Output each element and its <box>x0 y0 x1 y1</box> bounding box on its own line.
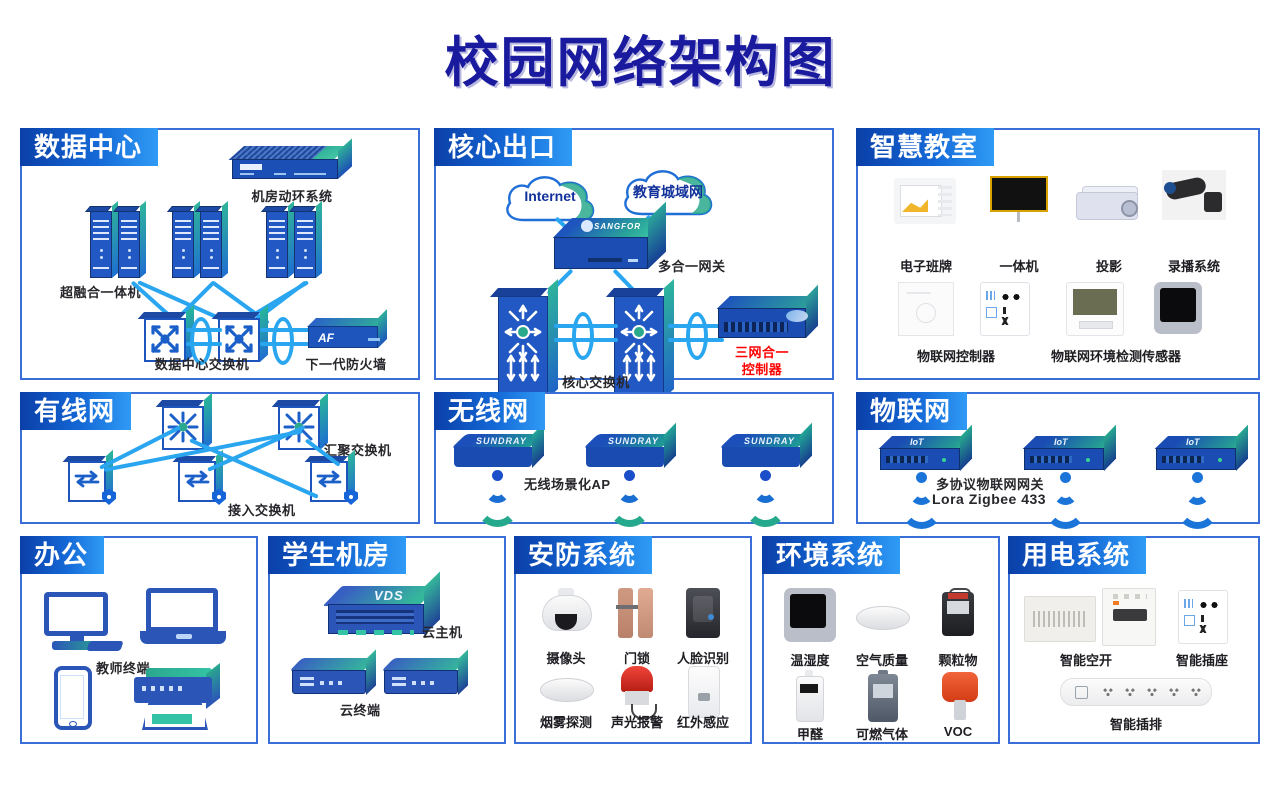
panel-header-environment-system: 环境系统 <box>762 536 900 574</box>
caption-smart-power-strip: 智能插排 <box>1110 714 1162 733</box>
caption-face-recognition: 人脸识别 <box>677 648 729 667</box>
caption-iot-controller: 物联网控制器 <box>917 346 995 365</box>
smart-socket-icon <box>980 282 1030 336</box>
label-data-center-switch: 数据中心交换机 <box>155 354 250 373</box>
caption-particulate-matter: 颗粒物 <box>938 650 977 669</box>
label-three-network-controller: 三网合一 控制器 <box>735 344 789 378</box>
wifi-signal-icon <box>738 470 792 512</box>
caption-sound-light-alarm: 声光报警 <box>611 712 663 731</box>
iot-brand-label: IoT <box>910 437 924 447</box>
smart-circuit-breaker-icon <box>1024 596 1096 642</box>
panel-office: 办公 教师终端 <box>20 536 258 744</box>
caption-combustible-gas: 可燃气体 <box>856 724 908 743</box>
panel-header-wired-network: 有线网 <box>20 392 131 430</box>
smart-circuit-breaker-icon <box>1102 588 1156 646</box>
cloud-label-internet: Internet <box>498 188 602 204</box>
firewall-badge: AF <box>318 331 334 345</box>
iot-brand-label: IoT <box>1186 437 1200 447</box>
particulate-matter-sensor-icon <box>940 588 976 640</box>
hci-server-icon <box>294 206 321 278</box>
hci-server-icon <box>90 206 117 278</box>
controller-label-line1: 三网合一 <box>735 345 789 360</box>
iot-gateway-icon: IoT <box>1156 436 1248 472</box>
panel-wireless-network: 无线网 SUNDRAY SUNDRAY SUNDRAY 无线场景化AP <box>434 392 834 524</box>
infrared-sensor-icon <box>688 666 720 718</box>
panel-student-lab: 学生机房 VDS 云主机 云终端 <box>268 536 506 744</box>
caption-air-quality: 空气质量 <box>856 650 908 669</box>
label-wireless-ap: 无线场景化AP <box>524 474 611 493</box>
caption-door-lock: 门锁 <box>624 648 650 667</box>
smart-power-strip-icon <box>1060 678 1212 706</box>
three-network-controller-icon <box>718 296 818 338</box>
caption-infrared-sensor: 红外感应 <box>677 712 729 731</box>
label-next-gen-firewall: 下一代防火墙 <box>305 354 386 373</box>
panel-security-system: 安防系统 摄像头 门锁 人脸识别 烟雾探测 声光报警 红外感应 <box>514 536 752 744</box>
panel-header-student-lab: 学生机房 <box>268 536 406 574</box>
dome-camera-icon <box>540 588 592 640</box>
cloud-terminal-icon <box>384 658 468 696</box>
trunk-connector-icon <box>686 312 708 360</box>
smoke-detector-icon <box>540 672 592 706</box>
panel-header-iot-network: 物联网 <box>856 392 967 430</box>
laptop-icon <box>140 588 226 646</box>
wifi-signal-icon <box>470 470 524 512</box>
panel-data-center: 数据中心 机房动环系统 <box>20 128 420 380</box>
panel-header-security-system: 安防系统 <box>514 536 652 574</box>
cloud-terminal-icon <box>292 658 376 696</box>
caption-iot-environment-sensor: 物联网环境检测传感器 <box>1051 346 1181 365</box>
cloud-label-education-man: 教育城域网 <box>616 182 720 202</box>
gateway-brand-label: SANGFOR <box>594 222 641 231</box>
electronic-class-board-icon <box>894 178 956 224</box>
panel-power-system: 用电系统 智能空开 智能插座 智能插排 <box>1008 536 1260 744</box>
desktop-computer-icon <box>44 592 112 654</box>
panel-header-wireless-network: 无线网 <box>434 392 545 430</box>
label-cloud-host: 云主机 <box>422 622 463 641</box>
label-core-switch: 核心交换机 <box>562 372 630 391</box>
iot-brand-label: IoT <box>1054 437 1068 447</box>
caption-smart-socket: 智能插座 <box>1176 650 1228 669</box>
panel-header-smart-classroom: 智慧教室 <box>856 128 994 166</box>
ap-brand-label: SUNDRAY <box>476 436 527 446</box>
caption-interactive-panel: 一体机 <box>999 256 1038 275</box>
wireless-ap-icon: SUNDRAY <box>722 434 812 470</box>
page-title: 校园网络架构图 <box>0 18 1281 97</box>
formaldehyde-sensor-icon <box>796 670 822 720</box>
iot-controller-icon <box>898 282 954 336</box>
wifi-signal-icon <box>1170 472 1224 514</box>
iot-gateway-icon: IoT <box>880 436 972 472</box>
trunk-connector-icon <box>572 312 594 360</box>
iot-environment-sensor-icon <box>1154 282 1202 334</box>
iot-environment-sensor-icon <box>1066 282 1124 336</box>
caption-projector: 投影 <box>1096 256 1122 275</box>
caption-voc: VOC <box>944 724 972 739</box>
label-hci-server: 超融合一体机 <box>60 282 141 301</box>
controller-label-line2: 控制器 <box>742 362 783 377</box>
wireless-ap-icon: SUNDRAY <box>454 434 544 470</box>
caption-formaldehyde: 甲醛 <box>797 724 823 743</box>
hci-server-icon <box>200 206 227 278</box>
environment-monitoring-appliance-icon <box>232 146 352 184</box>
caption-recording-system: 录播系统 <box>1168 256 1220 275</box>
label-access-switch: 接入交换机 <box>228 500 296 519</box>
panel-header-core-exit: 核心出口 <box>434 128 572 166</box>
trunk-connector-icon <box>272 317 294 365</box>
smart-socket-icon <box>1178 590 1228 644</box>
caption-temperature-humidity: 温湿度 <box>790 650 829 669</box>
voc-sensor-icon <box>940 670 980 722</box>
aggregation-switch-icon <box>162 400 212 450</box>
hci-server-icon <box>266 206 293 278</box>
caption-camera: 摄像头 <box>546 648 585 667</box>
wireless-ap-icon: SUNDRAY <box>586 434 676 470</box>
panel-smart-classroom: 智慧教室 电子班牌 一体机 投影 录播系统 物联网控制器 物联网环境 <box>856 128 1260 380</box>
smart-door-lock-icon <box>616 588 658 640</box>
smartphone-icon <box>54 666 92 730</box>
ap-brand-label: SUNDRAY <box>608 436 659 446</box>
panel-environment-system: 环境系统 温湿度 空气质量 颗粒物 甲醛 可燃气体 VOC <box>762 536 1000 744</box>
diagram-canvas: 校园网络架构图 数据中心 机房动环系统 <box>0 0 1281 800</box>
recording-camera-icon <box>1162 170 1226 220</box>
panel-header-power-system: 用电系统 <box>1008 536 1146 574</box>
label-iot-protocols: Lora Zigbee 433 <box>932 491 1046 507</box>
caption-smoke-detector: 烟雾探测 <box>540 712 592 731</box>
label-multi-function-gateway: 多合一网关 <box>658 256 726 275</box>
cloud-education-man-icon: 教育城域网 <box>616 164 720 220</box>
panel-header-data-center: 数据中心 <box>20 128 158 166</box>
interactive-panel-icon <box>988 174 1050 222</box>
panel-core-exit: 核心出口 Internet 教育城域网 SANGFOR 多合一网关 <box>434 128 834 380</box>
vds-brand-label: VDS <box>374 588 404 603</box>
sound-light-alarm-icon <box>617 666 657 718</box>
core-switch-icon <box>498 288 558 398</box>
panel-header-office: 办公 <box>20 536 104 574</box>
hci-server-icon <box>172 206 199 278</box>
hci-server-icon <box>118 206 145 278</box>
projector-icon <box>1076 184 1142 224</box>
next-gen-firewall-icon: AF <box>308 318 386 348</box>
multi-function-gateway-icon: SANGFOR <box>554 218 666 270</box>
air-quality-sensor-icon <box>856 600 908 634</box>
wifi-signal-icon <box>1038 472 1092 514</box>
panel-iot-network: 物联网 IoT IoT IoT 多协议物联网网关 Lora Zigbee 433 <box>856 392 1260 524</box>
iot-gateway-icon: IoT <box>1024 436 1116 472</box>
combustible-gas-sensor-icon <box>868 670 898 722</box>
face-recognition-icon <box>686 588 720 638</box>
ap-brand-label: SUNDRAY <box>744 436 795 446</box>
printer-icon <box>134 668 220 728</box>
caption-smart-circuit-breaker: 智能空开 <box>1060 650 1112 669</box>
caption-electronic-class-board: 电子班牌 <box>900 256 952 275</box>
label-cloud-terminal: 云终端 <box>340 700 381 719</box>
panel-wired-network: 有线网 汇聚交换机 <box>20 392 420 524</box>
temperature-humidity-sensor-icon <box>784 588 836 642</box>
